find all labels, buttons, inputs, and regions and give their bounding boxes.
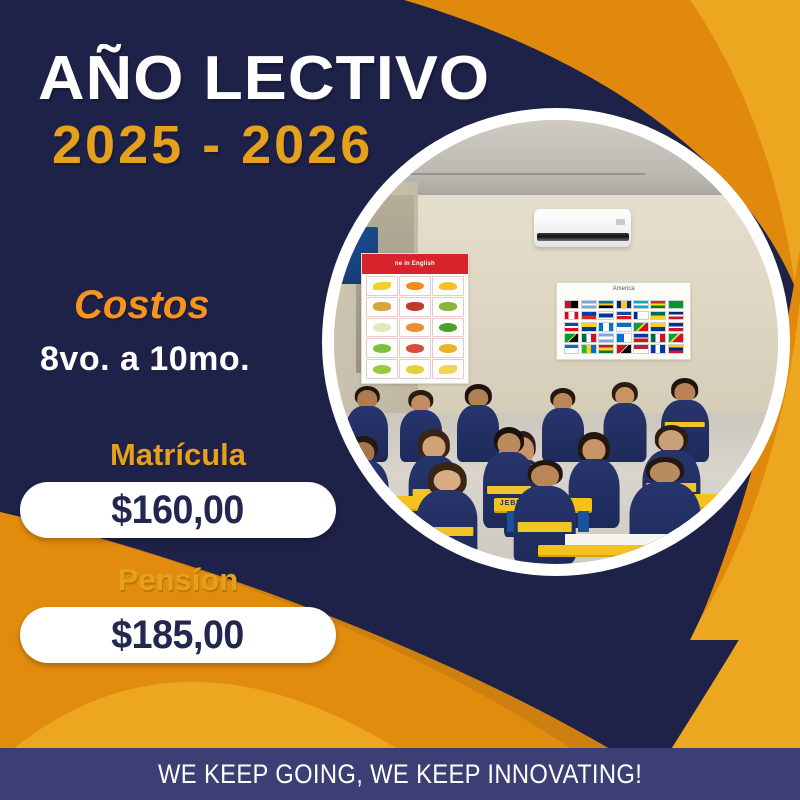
- matricula-price-pill: $160,00: [20, 482, 336, 538]
- school-year-range: 2025 - 2026: [52, 118, 373, 172]
- america-flags-poster: America: [556, 282, 691, 359]
- slogan-text: WE KEEP GOING, WE KEEP INNOVATING!: [158, 759, 642, 790]
- costs-heading: Costos: [74, 283, 210, 328]
- air-conditioner-icon: [534, 209, 632, 247]
- grade-range-label: 8vo. a 10mo.: [40, 340, 250, 379]
- pension-label: Pensíon: [0, 562, 356, 598]
- pension-price-pill: $185,00: [20, 607, 336, 663]
- slogan-banner: WE KEEP GOING, WE KEEP INNOVATING!: [0, 748, 800, 800]
- student-row-front: [334, 457, 778, 564]
- classroom-photo-circle: America: [322, 108, 790, 576]
- matricula-amount: $160,00: [112, 488, 245, 533]
- ceiling-seam: [370, 173, 645, 175]
- matricula-label: Matrícula: [0, 437, 356, 473]
- classroom-photo: America: [334, 120, 778, 564]
- flag-grid: [564, 300, 684, 354]
- pension-amount: $185,00: [112, 613, 245, 658]
- poster-header: ne in English: [362, 254, 469, 273]
- page-title: AÑO LECTIVO: [38, 48, 490, 110]
- promo-poster: America: [0, 0, 800, 800]
- poster-caption: America: [557, 286, 690, 292]
